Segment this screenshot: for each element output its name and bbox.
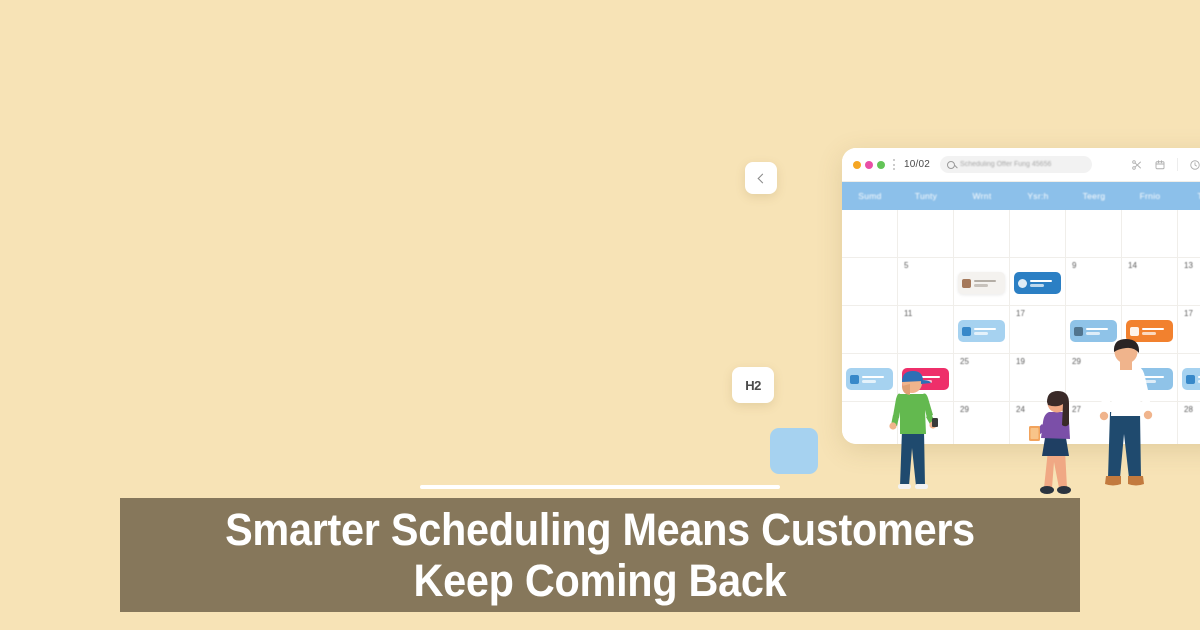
calendar-day-cell[interactable]: 13 <box>1178 258 1200 306</box>
event-icon <box>962 279 971 288</box>
calendar-day-number: 17 <box>1016 309 1025 318</box>
hero-canvas: 10/02 Scheduling Offer Fung 45656 <box>0 0 1200 630</box>
calendar-day-cell[interactable] <box>954 258 1010 306</box>
event-label-blur <box>974 328 1001 335</box>
event-label-blur <box>1142 328 1169 335</box>
calendar-day-cell[interactable] <box>1178 210 1200 258</box>
calendar-day-cell[interactable] <box>1066 210 1122 258</box>
calendar-day-cell[interactable]: 17 <box>1178 306 1200 354</box>
page-title: Smarter Scheduling Means Customers Keep … <box>171 504 1028 606</box>
calendar-day-cell[interactable] <box>842 210 898 258</box>
calendar-day-cell[interactable] <box>1122 210 1178 258</box>
calendar-day-number: 25 <box>960 357 969 366</box>
calendar-day-number: 24 <box>1016 405 1025 414</box>
h2-chip[interactable]: H2 <box>732 367 774 403</box>
calendar-day-cell[interactable]: 14 <box>1122 258 1178 306</box>
calendar-day-cell[interactable]: 11 <box>898 306 954 354</box>
calendar-event[interactable] <box>1182 368 1200 390</box>
calendar-day-number: 9 <box>1072 261 1076 270</box>
h2-chip-label: H2 <box>745 378 761 393</box>
calendar-day-cell[interactable] <box>1010 210 1066 258</box>
window-close-dot[interactable] <box>853 161 861 169</box>
title-divider <box>420 485 780 489</box>
calendar-day-cell[interactable] <box>898 210 954 258</box>
event-label-blur <box>974 280 1001 287</box>
calendar-day-cell[interactable]: 17 <box>1010 306 1066 354</box>
calendar-event[interactable] <box>958 272 1005 294</box>
scissors-icon[interactable] <box>1131 159 1143 171</box>
chevron-left-icon <box>757 173 767 183</box>
calendar-day-number: 13 <box>1184 261 1193 270</box>
calendar-day-cell[interactable] <box>1010 258 1066 306</box>
calendar-day-number: 29 <box>1072 357 1081 366</box>
calendar-day-number: 29 <box>960 405 969 414</box>
calendar-day-cell[interactable]: 28 <box>1178 402 1200 444</box>
weekday-label: Tunty <box>898 182 954 210</box>
weekday-label: Wrnt <box>954 182 1010 210</box>
calendar-day-cell[interactable]: 5 <box>898 258 954 306</box>
event-icon <box>850 375 859 384</box>
window-minimize-dot[interactable] <box>865 161 873 169</box>
calendar-day-number: 17 <box>1184 309 1193 318</box>
event-icon <box>1186 375 1195 384</box>
weekday-label: Tafu <box>1178 182 1200 210</box>
window-maximize-dot[interactable] <box>877 161 885 169</box>
calendar-day-cell[interactable]: 9 <box>1066 258 1122 306</box>
weekday-label: Frnio <box>1122 182 1178 210</box>
search-input[interactable]: Scheduling Offer Fung 45656 <box>940 156 1092 173</box>
headline-banner: Smarter Scheduling Means Customers Keep … <box>120 498 1080 612</box>
window-controls[interactable] <box>853 161 885 169</box>
calendar-event[interactable] <box>958 320 1005 342</box>
calendar-day-cell[interactable] <box>954 210 1010 258</box>
weekday-label: Teerg <box>1066 182 1122 210</box>
calendar-day-cell[interactable] <box>1178 354 1200 402</box>
calendar-day-number: 11 <box>904 309 912 318</box>
event-icon <box>1074 327 1083 336</box>
blue-chip[interactable] <box>770 428 818 474</box>
weekday-label: Ysr:h <box>1010 182 1066 210</box>
clock-icon[interactable] <box>1189 159 1200 171</box>
calendar-day-cell[interactable]: 25 <box>954 354 1010 402</box>
browser-toolbar: 10/02 Scheduling Offer Fung 45656 <box>842 148 1200 182</box>
calendar-day-cell[interactable] <box>842 258 898 306</box>
calendar-day-number: 14 <box>1128 261 1137 270</box>
calendar-day-cell[interactable] <box>842 306 898 354</box>
event-icon <box>962 327 971 336</box>
calendar-day-number: 19 <box>1016 357 1025 366</box>
back-chip[interactable] <box>745 162 777 194</box>
calendar-day-cell[interactable] <box>954 306 1010 354</box>
search-icon <box>947 161 955 169</box>
calendar-event[interactable] <box>1014 272 1061 294</box>
event-label-blur <box>1086 328 1113 335</box>
current-date-label: 10/02 <box>904 159 930 170</box>
person-standing <box>1088 338 1166 496</box>
person-with-tablet <box>1028 388 1090 498</box>
toolbar-divider <box>1177 158 1178 171</box>
calendar-day-number: 5 <box>904 261 908 270</box>
event-icon <box>1018 279 1027 288</box>
calendar-day-cell[interactable]: 29 <box>954 402 1010 444</box>
event-label-blur <box>1030 280 1057 287</box>
calendar-day-number: 28 <box>1184 405 1193 414</box>
toolbar-icon-group <box>1131 158 1200 171</box>
event-icon <box>1130 327 1139 336</box>
overflow-menu-icon[interactable] <box>892 159 895 170</box>
calendar-icon[interactable] <box>1154 159 1166 171</box>
search-placeholder: Scheduling Offer Fung 45656 <box>960 161 1051 168</box>
calendar-weekday-header: Sumd Tunty Wrnt Ysr:h Teerg Frnio Tafu <box>842 182 1200 210</box>
person-with-phone <box>876 368 952 496</box>
weekday-label: Sumd <box>842 182 898 210</box>
